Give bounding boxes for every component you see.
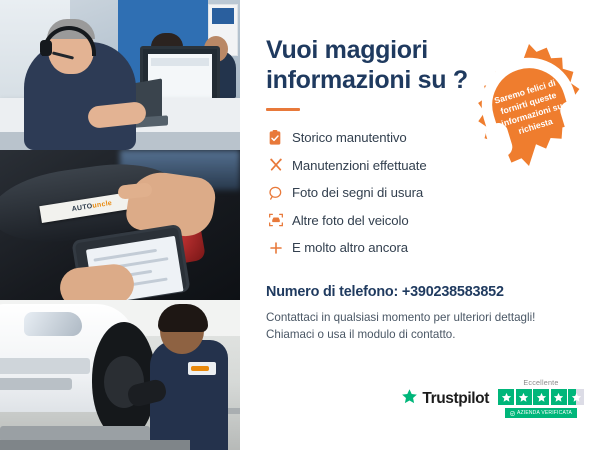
contact-line-2: Chiamaci o usa il modulo di contatto.	[266, 326, 574, 344]
star-half	[568, 389, 584, 405]
car-grille-upper	[0, 358, 90, 374]
promo-banner: AUTOuncle	[0, 0, 600, 450]
contact-instructions: Contattaci in qualsiasi momento per ulte…	[266, 309, 574, 344]
trustpilot-logo: Trustpilot	[401, 388, 489, 418]
trustpilot-star-icon	[401, 388, 418, 410]
contact-line-1: Contattaci in qualsiasi momento per ulte…	[266, 309, 574, 327]
verified-label: AZIENDA VERIFICATA	[517, 410, 572, 416]
plus-icon	[268, 240, 292, 256]
feature-label: Foto dei segni di usura	[292, 185, 423, 200]
tools-cross-icon	[268, 157, 292, 173]
check-circle-icon	[510, 411, 515, 416]
trustpilot-rating-label: Eccellente	[523, 378, 558, 387]
car-headlight	[24, 312, 82, 336]
trustpilot-widget[interactable]: Trustpilot Eccellente	[401, 378, 584, 418]
photo-column: AUTOuncle	[0, 0, 240, 450]
trustpilot-stars	[498, 389, 584, 405]
headset-earcup	[40, 40, 52, 56]
vehicle-lift-base	[0, 440, 190, 450]
mechanic-hair	[158, 304, 208, 332]
feature-label: E molto altro ancora	[292, 240, 408, 255]
call-center-agents-photo	[0, 0, 240, 150]
car-grille-lower	[0, 378, 72, 390]
feature-item-foto-segni-usura: Foto dei segni di usura	[268, 179, 574, 207]
star-filled	[516, 389, 532, 405]
feature-label: Manutenzioni effettuate	[292, 158, 427, 173]
star-filled	[533, 389, 549, 405]
clipboard-check-icon	[268, 130, 292, 146]
title-divider	[266, 108, 300, 111]
car-scan-frame-icon	[268, 212, 292, 228]
mechanic-uniform-badge	[188, 362, 216, 375]
content-panel: Vuoi maggiori informazioni su ? Saremo f…	[240, 0, 600, 450]
star-filled	[551, 389, 567, 405]
technician-hand-holding-tablet	[58, 262, 136, 300]
page-title: Vuoi maggiori informazioni su ?	[266, 36, 476, 95]
feature-item-altre-foto-veicolo: Altre foto del veicolo	[268, 207, 574, 235]
magnifier-icon	[268, 185, 292, 201]
sticker-on-car-photo: AUTOuncle	[0, 150, 240, 300]
trustpilot-wordmark: Trustpilot	[422, 390, 489, 408]
feature-label: Storico manutentivo	[292, 130, 407, 145]
phone-number[interactable]: Numero di telefono: +390238583852	[266, 284, 574, 300]
callout-badge: Saremo felici di fornirti queste informa…	[466, 42, 592, 168]
status-badge: AZIENDA VERIFICATA	[505, 408, 577, 418]
feature-label: Altre foto del veicolo	[292, 213, 409, 228]
wall-poster-band	[212, 8, 234, 24]
star-filled	[498, 389, 514, 405]
mechanic-wheel-photo	[0, 300, 240, 450]
feature-item-molto-altro: E molto altro ancora	[268, 234, 574, 262]
trustpilot-rating: Eccellente	[498, 378, 584, 418]
